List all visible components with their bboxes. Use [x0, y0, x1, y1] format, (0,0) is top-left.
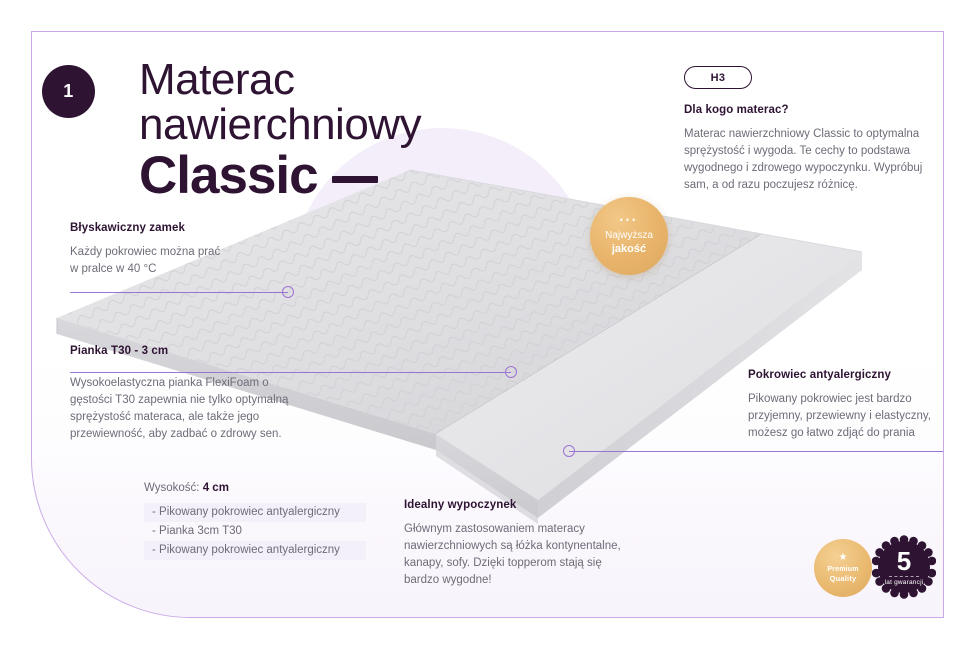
premium-quality-badge: ★ Premium Quality: [814, 539, 872, 597]
feature-foam-body: Wysokoelastyczna pianka FlexiFoam o gęst…: [70, 375, 350, 443]
spec-layer-row: - Pikowany pokrowiec antyalergiczny: [144, 541, 366, 560]
premium-badge-line-2: Quality: [830, 574, 857, 583]
title-line-3-row: Classic: [139, 147, 609, 205]
connector-line-foam: [70, 372, 511, 373]
spec-list: Wysokość: 4 cm - Pikowany pokrowiec anty…: [144, 482, 366, 560]
warranty-badge: 5 lat gwarancji: [872, 535, 936, 599]
feature-foam: Pianka T30 - 3 cm Wysokoelastyczna piank…: [70, 345, 350, 443]
title-line-3: Classic: [139, 147, 318, 205]
feature-zipper-body: Każdy pokrowiec można prać w pralce w 40…: [70, 244, 310, 278]
page-title: Materac nawierchniowy Classic: [139, 57, 609, 205]
step-number-badge: 1: [42, 65, 95, 118]
feature-zipper: Błyskawiczny zamek Każdy pokrowiec można…: [70, 222, 310, 278]
heading-level-tag: H3: [684, 66, 752, 89]
feature-rest-body: Głównym zastosowaniem materacy nawierzch…: [404, 521, 664, 589]
connector-dot-zipper: [282, 286, 294, 298]
step-number-text: 1: [63, 81, 74, 102]
premium-badge-line-1: Premium: [827, 565, 858, 574]
content-frame: 1 Materac nawierchniowy Classic H3 Dla k…: [31, 31, 944, 618]
medallion-line-1: Najwyższa: [605, 230, 653, 242]
spec-height-row: Wysokość: 4 cm: [144, 482, 366, 494]
warranty-badge-content: 5 lat gwarancji: [872, 535, 936, 599]
connector-line-cover: [569, 451, 944, 452]
feature-rest-heading: Idealny wypoczynek: [404, 499, 664, 511]
title-line-2: nawierchniowy: [139, 102, 609, 147]
star-icon: ★: [839, 553, 848, 563]
feature-foam-heading: Pianka T30 - 3 cm: [70, 345, 350, 357]
feature-cover: Pokrowiec antyalergiczny Pikowany pokrow…: [748, 369, 944, 442]
medallion-dots-icon: •••: [620, 216, 638, 225]
title-line-1: Materac: [139, 57, 609, 102]
title-dash-icon: [332, 176, 378, 183]
connector-dot-foam: [505, 366, 517, 378]
spec-layer-row: - Pikowany pokrowiec antyalergiczny: [144, 503, 366, 522]
connector-dot-cover: [563, 445, 575, 457]
warranty-years-label: lat gwarancji: [885, 579, 924, 586]
feature-cover-body: Pikowany pokrowiec jest bardzo przyjemny…: [748, 391, 944, 442]
intro-body: Materac nawierzchniowy Classic to optyma…: [684, 126, 936, 194]
spec-layer-row: - Pianka 3cm T30: [144, 522, 366, 541]
seal-divider: [889, 576, 919, 577]
connector-line-zipper: [70, 292, 288, 293]
intro-block: Dla kogo materac? Materac nawierzchniowy…: [684, 104, 936, 194]
medallion-line-2: jakość: [612, 242, 646, 256]
infographic-page: 1 Materac nawierchniowy Classic H3 Dla k…: [0, 0, 975, 649]
feature-cover-heading: Pokrowiec antyalergiczny: [748, 369, 944, 381]
feature-rest: Idealny wypoczynek Głównym zastosowaniem…: [404, 499, 664, 589]
quality-medallion: ••• Najwyższa jakość: [590, 197, 668, 275]
heading-level-tag-label: H3: [711, 72, 726, 84]
warranty-years-number: 5: [897, 549, 911, 573]
spec-height-label: Wysokość:: [144, 482, 200, 494]
spec-height-value: 4 cm: [203, 482, 229, 494]
feature-zipper-heading: Błyskawiczny zamek: [70, 222, 310, 234]
intro-heading: Dla kogo materac?: [684, 104, 936, 116]
